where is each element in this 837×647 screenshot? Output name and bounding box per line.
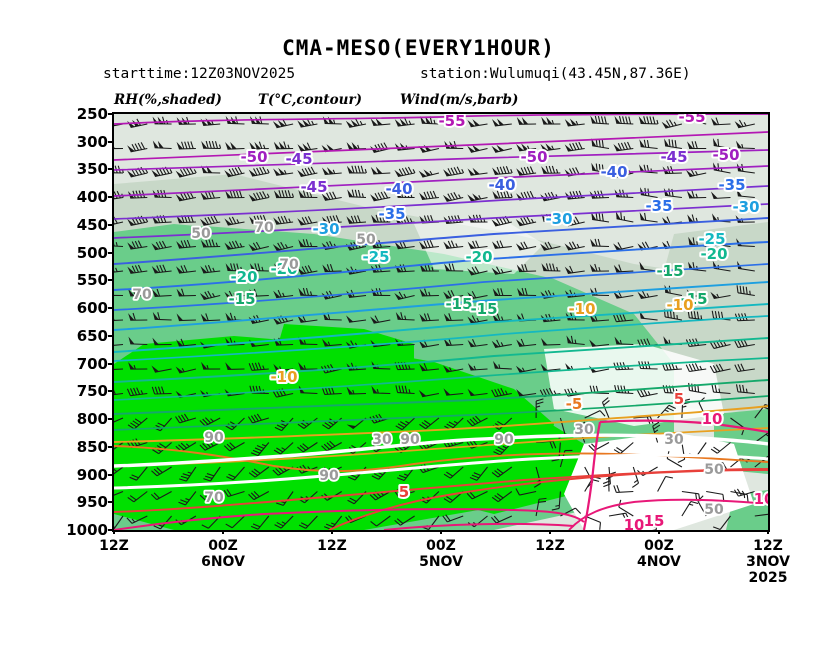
temperature-contour-label: -45 xyxy=(660,148,687,166)
contour-label-layer: -55-55-50-50-50-45-45-40-40-45-40-35-35-… xyxy=(114,114,768,530)
rh-contour-label: 90 xyxy=(204,430,224,446)
temperature-contour-label: -15 xyxy=(445,295,472,313)
y-axis-tick-label: 650 xyxy=(48,327,108,345)
y-axis: 2503003504004505005506006507007508008509… xyxy=(42,112,108,532)
chart-canvas: CMA-MESO(EVERY1HOUR) starttime:12Z03NOV2… xyxy=(0,0,837,647)
temperature-contour-label: -45 xyxy=(285,150,312,168)
x-tick-time: 12Z xyxy=(746,538,790,554)
temperature-contour-label: -50 xyxy=(240,148,267,166)
y-axis-tick-label: 250 xyxy=(48,105,108,123)
rh-contour-label: 50 xyxy=(356,232,376,248)
temperature-contour-label: -10 xyxy=(568,300,595,318)
x-axis-tick-label: 00Z4NOV xyxy=(637,538,681,570)
temperature-contour-label: -25 xyxy=(362,248,389,266)
temperature-contour-label: -20 xyxy=(230,268,257,286)
rh-contour-label: 50 xyxy=(704,462,724,478)
x-axis-tick-label: 12Z xyxy=(99,538,129,554)
x-tick-date: 6NOV xyxy=(201,554,245,570)
legend-rh: RH(%,shaded) xyxy=(114,92,222,108)
temperature-contour-label: -40 xyxy=(488,176,515,194)
y-axis-tick-label: 1000 xyxy=(48,521,108,539)
temperature-contour-label: -30 xyxy=(312,220,339,238)
rh-contour-label: 30 xyxy=(664,432,684,448)
temperature-contour-label: 10 xyxy=(754,490,768,508)
y-axis-tick-label: 750 xyxy=(48,382,108,400)
temperature-contour-label: -40 xyxy=(600,163,627,181)
y-axis-tick-label: 400 xyxy=(48,188,108,206)
rh-contour-label: 70 xyxy=(254,220,274,236)
temperature-contour-label: -15 xyxy=(470,300,497,318)
temperature-contour-label: -10 xyxy=(666,296,693,314)
temperature-contour-label: -30 xyxy=(545,210,572,228)
y-axis-tick-label: 950 xyxy=(48,493,108,511)
temperature-contour-label: 5 xyxy=(674,390,684,408)
x-tick-date: 5NOV xyxy=(419,554,463,570)
x-axis-tick-label: 12Z3NOV2025 xyxy=(746,538,790,586)
x-tick-time: 12Z xyxy=(317,538,347,554)
temperature-contour-label: -20 xyxy=(700,245,727,263)
x-tick-time: 00Z xyxy=(419,538,463,554)
rh-contour-label: 30 xyxy=(372,432,392,448)
temperature-contour-label: -55 xyxy=(678,114,705,126)
temperature-contour-label: 5 xyxy=(399,483,409,501)
plot-area: -55-55-50-50-50-45-45-40-40-45-40-35-35-… xyxy=(112,112,770,532)
x-tick-time: 00Z xyxy=(201,538,245,554)
starttime-label: starttime:12Z03NOV2025 xyxy=(103,66,295,82)
temperature-contour-label: -50 xyxy=(712,146,739,164)
x-axis-tick-label: 12Z xyxy=(317,538,347,554)
y-axis-tick-label: 450 xyxy=(48,216,108,234)
x-tick-time: 00Z xyxy=(637,538,681,554)
y-axis-tick-label: 850 xyxy=(48,438,108,456)
legend-temperature: T(°C,contour) xyxy=(258,92,362,108)
temperature-contour-label: -15 xyxy=(656,262,683,280)
temperature-contour-label: -30 xyxy=(732,198,759,216)
x-tick-year: 2025 xyxy=(746,570,790,586)
y-axis-tick-label: 600 xyxy=(48,299,108,317)
y-axis-tick-label: 300 xyxy=(48,133,108,151)
rh-contour-label: 50 xyxy=(704,502,724,518)
rh-contour-label: 50 xyxy=(191,226,211,242)
temperature-contour-label: -45 xyxy=(300,178,327,196)
y-axis-tick-label: 350 xyxy=(48,160,108,178)
x-tick-date: 4NOV xyxy=(637,554,681,570)
temperature-contour-label: -35 xyxy=(378,205,405,223)
plot-inner: -55-55-50-50-50-45-45-40-40-45-40-35-35-… xyxy=(114,114,768,530)
temperature-contour-label: -5 xyxy=(566,395,583,413)
temperature-contour-label: 10 xyxy=(624,516,645,530)
legend-wind: Wind(m/s,barb) xyxy=(400,92,518,108)
temperature-contour-label: -35 xyxy=(645,197,672,215)
y-axis-tick-label: 900 xyxy=(48,466,108,484)
y-axis-tick-label: 550 xyxy=(48,271,108,289)
x-tick-date: 3NOV xyxy=(746,554,790,570)
page-title: CMA-MESO(EVERY1HOUR) xyxy=(0,36,837,60)
temperature-contour-label: -15 xyxy=(228,290,255,308)
x-axis-tick-label: 00Z5NOV xyxy=(419,538,463,570)
x-axis: 12Z00Z6NOV12Z00Z5NOV12Z00Z4NOV12Z3NOV202… xyxy=(112,534,770,624)
rh-contour-label: 70 xyxy=(279,257,299,273)
temperature-contour-label: -40 xyxy=(385,180,412,198)
y-axis-tick-label: 700 xyxy=(48,355,108,373)
temperature-contour-label: 10 xyxy=(702,410,723,428)
rh-contour-label: 70 xyxy=(204,490,224,506)
temperature-contour-label: -10 xyxy=(270,368,297,386)
y-axis-tick-label: 500 xyxy=(48,244,108,262)
x-tick-time: 12Z xyxy=(99,538,129,554)
station-label: station:Wulumuqi(43.45N,87.36E) xyxy=(420,66,691,82)
rh-contour-label: 30 xyxy=(574,422,594,438)
rh-contour-label: 90 xyxy=(400,432,420,448)
x-axis-tick-label: 12Z xyxy=(535,538,565,554)
rh-contour-label: 70 xyxy=(132,287,152,303)
temperature-contour-label: -20 xyxy=(465,248,492,266)
temperature-contour-label: -50 xyxy=(520,148,547,166)
temperature-contour-label: -55 xyxy=(438,114,465,130)
rh-contour-label: 90 xyxy=(319,468,339,484)
y-axis-tick-label: 800 xyxy=(48,410,108,428)
temperature-contour-label: 15 xyxy=(644,512,665,530)
rh-contour-label: 90 xyxy=(494,432,514,448)
x-tick-time: 12Z xyxy=(535,538,565,554)
x-axis-tick-label: 00Z6NOV xyxy=(201,538,245,570)
temperature-contour-label: -35 xyxy=(718,176,745,194)
